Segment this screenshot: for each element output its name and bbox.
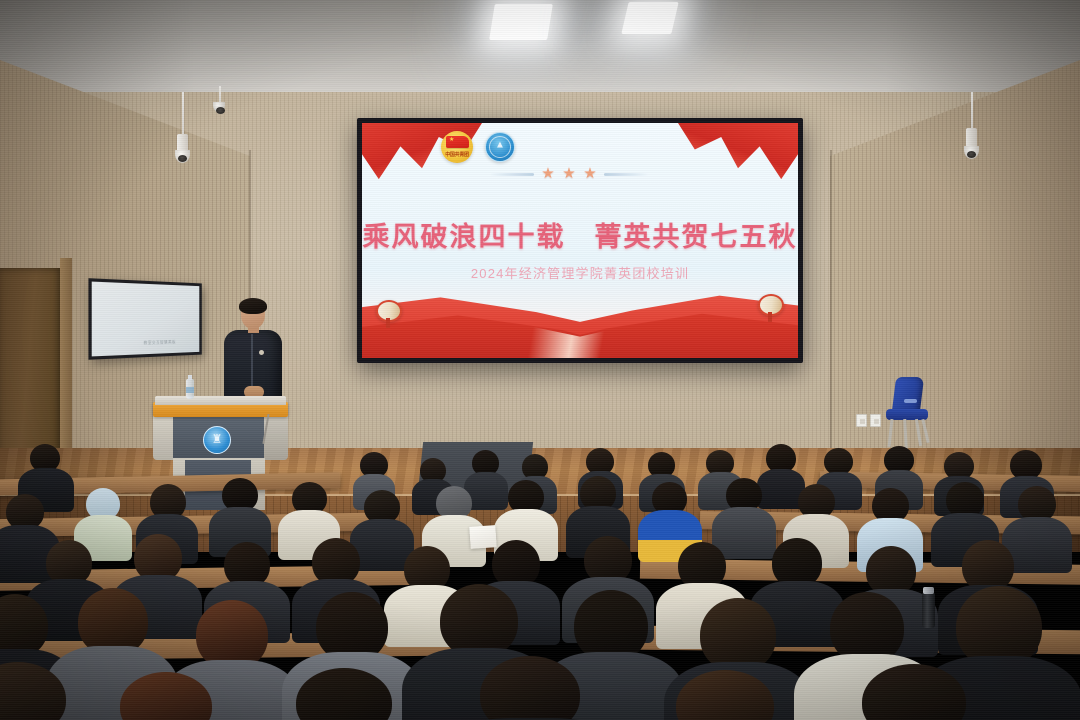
thermos-bottle[interactable]: [922, 592, 935, 628]
wall-display-caption: 教室交互智慧黑板: [144, 339, 176, 346]
bottle-label: [186, 387, 194, 393]
lecture-hall-scene: 教室交互智慧黑板 ★ 中国共青团 ▲ ★: [0, 0, 1080, 720]
red-ribbon-waves: [362, 276, 798, 358]
wall-display[interactable]: 教室交互智慧黑板: [88, 278, 201, 360]
gold-star-icon-3: ★: [583, 167, 597, 181]
decor-line-left: [490, 173, 534, 176]
drum-icon-right: [758, 294, 784, 318]
led-screen[interactable]: ★ 中国共青团 ▲ ★ ★ ★ 乘风破浪四十载 菁英共贺七五秋 2024年经济管…: [357, 118, 803, 363]
wall-socket-2[interactable]: [870, 414, 881, 427]
drum-stand-right: [768, 312, 772, 322]
university-emblem-icon: ▲: [485, 132, 515, 162]
gold-star-icon-2: ★: [562, 167, 576, 181]
led-screen-content: ★ 中国共青团 ▲ ★ ★ ★ 乘风破浪四十载 菁英共贺七五秋 2024年经济管…: [362, 123, 798, 358]
slide-main-title: 乘风破浪四十载 菁英共贺七五秋: [362, 215, 798, 254]
stars-decoration: ★ ★ ★: [490, 167, 648, 181]
head: [440, 584, 518, 658]
chair-back: [892, 377, 924, 412]
chair-leg-4: [921, 419, 929, 443]
star-glyph: ★: [449, 138, 454, 143]
chair-back-slot: [904, 399, 917, 403]
water-bottle[interactable]: [186, 379, 194, 399]
drum-stand-left: [386, 318, 390, 328]
drum-icon-left: [376, 300, 402, 324]
speaker-hair: [239, 298, 267, 314]
camera-housing-right: [966, 128, 977, 147]
ceiling-camera-left-2: [213, 102, 225, 112]
audience-area: [0, 442, 1080, 720]
notebook-paper: [469, 525, 496, 549]
league-emblem-text: 中国共青团: [444, 151, 470, 158]
wall-display-surface: 教室交互智慧黑板: [92, 282, 200, 357]
ceiling-panel-light-1: [489, 4, 553, 40]
head: [824, 448, 853, 475]
communist-youth-league-emblem-icon: ★ 中国共青团: [441, 131, 473, 163]
podium-deck: [155, 396, 286, 405]
blue-plastic-chair[interactable]: [884, 377, 930, 449]
speaker-badge: [259, 350, 264, 355]
decor-line-right: [604, 173, 648, 176]
red-drape-right-icon: [678, 123, 798, 201]
head: [700, 598, 776, 672]
emblem-mark: ▲: [495, 140, 505, 151]
emblem-row: ★ 中国共青团 ▲: [441, 131, 515, 163]
wall-socket-1[interactable]: [856, 414, 867, 427]
wall-corner-right: [830, 150, 832, 480]
camera-rod-left: [182, 92, 184, 138]
slide-subtitle: 2024年经济管理学院菁英团校培训: [362, 263, 798, 282]
gold-star-icon-1: ★: [541, 167, 555, 181]
ceiling-panel-light-2: [621, 2, 678, 34]
